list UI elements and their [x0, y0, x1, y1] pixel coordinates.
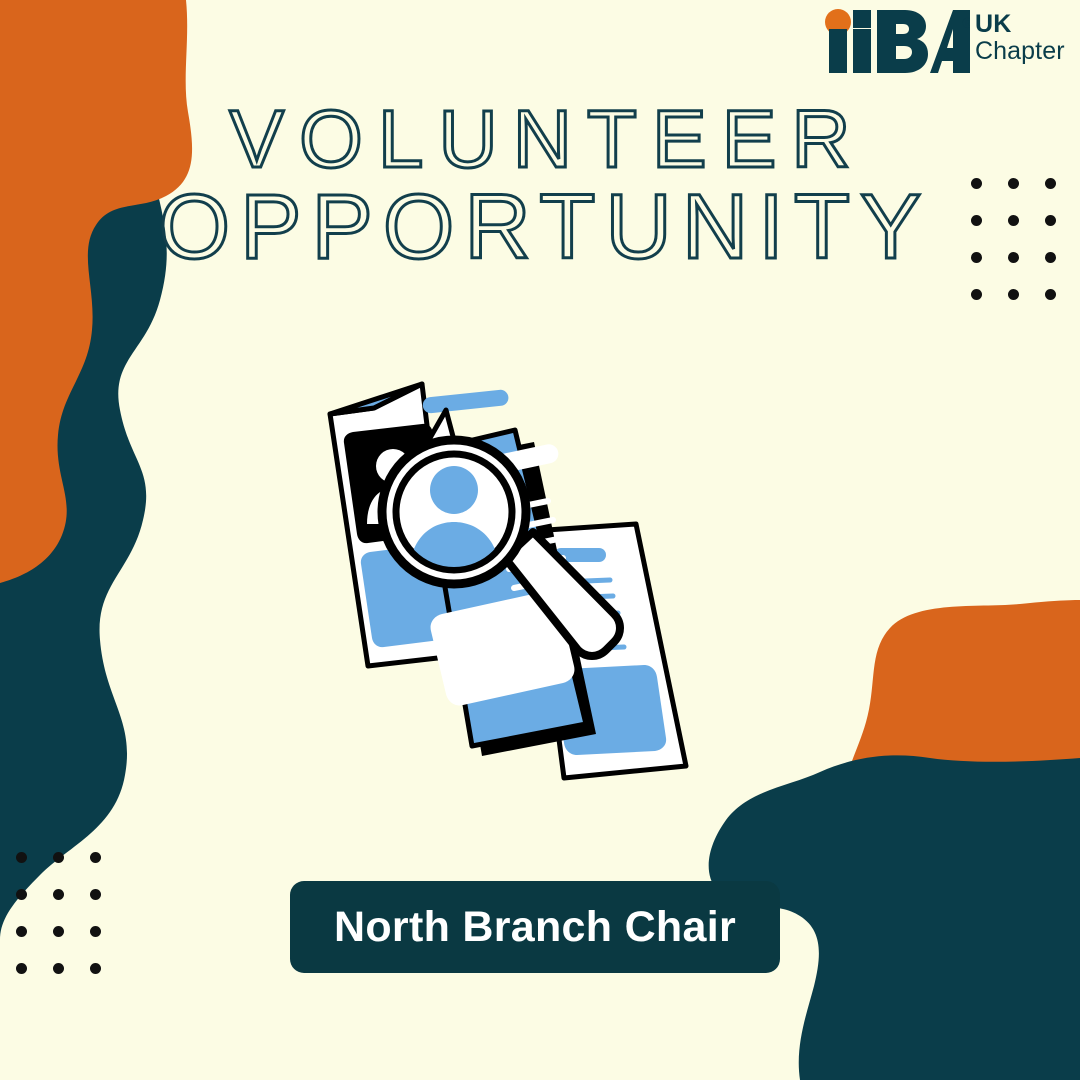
blob-bottom-right-orange [843, 600, 1080, 1080]
dot [90, 852, 101, 863]
back-document-title-bar [422, 389, 509, 414]
dot [971, 252, 982, 263]
iiba-logo-mark: ® [820, 8, 970, 74]
logo-registered-symbol: ® [962, 15, 970, 32]
page-title: VOLUNTEER OPPORTUNITY [0, 100, 1080, 275]
dot [16, 889, 27, 900]
magnifier-avatar-head [430, 466, 478, 514]
candidate-search-illustration [318, 366, 768, 806]
headline-line-1: VOLUNTEER [0, 100, 1080, 180]
role-title-banner: North Branch Chair [290, 881, 780, 973]
dot [971, 178, 982, 189]
dot [1008, 178, 1019, 189]
dot [1008, 252, 1019, 263]
dot [53, 852, 64, 863]
dot [90, 889, 101, 900]
dot [1045, 215, 1056, 226]
dot [971, 215, 982, 226]
dot [90, 926, 101, 937]
logo-i-dot-2 [853, 10, 871, 28]
dot [1008, 215, 1019, 226]
logo-uk-label: UK [975, 11, 1065, 38]
dot [53, 889, 64, 900]
dot-grid-bottom-left [16, 852, 101, 974]
logo-chapter-label: Chapter [975, 38, 1065, 65]
iiba-uk-chapter-logo: ® UK Chapter [820, 8, 1070, 88]
logo-i-stem-2 [853, 29, 871, 73]
dot [53, 963, 64, 974]
logo-i-stem-1 [829, 29, 847, 73]
blob-top-left-orange [0, 0, 192, 583]
dot [16, 963, 27, 974]
dot-grid-top-right [971, 178, 1056, 300]
role-title-label: North Branch Chair [334, 903, 736, 952]
dot [1008, 289, 1019, 300]
dot [1045, 289, 1056, 300]
dot [1045, 178, 1056, 189]
logo-wordmark-text: UK Chapter [975, 11, 1065, 65]
poster-canvas: ® UK Chapter VOLUNTEER OPPORTUNITY [0, 0, 1080, 1080]
dot [16, 852, 27, 863]
dot [1045, 252, 1056, 263]
dot [90, 963, 101, 974]
dot [53, 926, 64, 937]
dot [16, 926, 27, 937]
dot [971, 289, 982, 300]
logo-letter-b [877, 10, 928, 73]
headline-line-2: OPPORTUNITY [0, 180, 1080, 275]
